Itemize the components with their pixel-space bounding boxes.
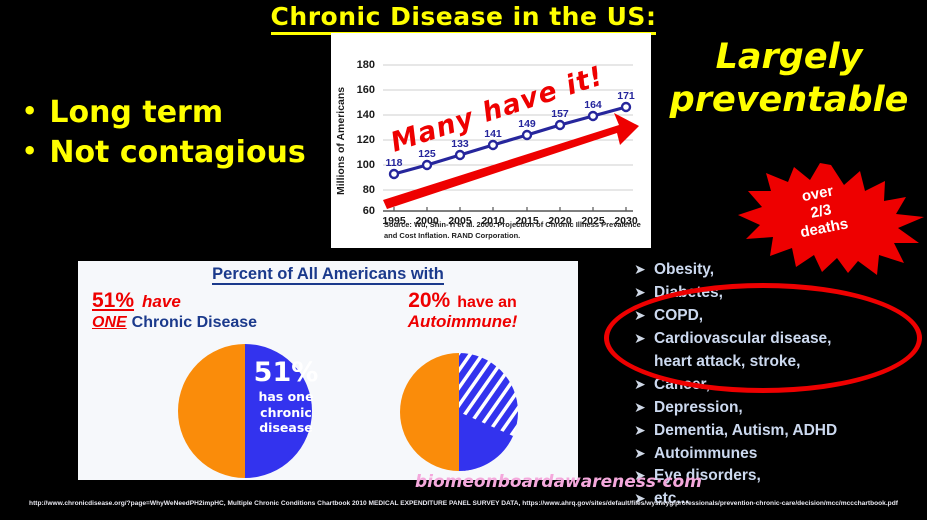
pie-panel-title-text: Percent of All Americans with bbox=[212, 265, 444, 285]
red-highlight-ellipse bbox=[604, 283, 922, 393]
pie-chart-autoimmune bbox=[400, 353, 518, 471]
list-item-label: Dementia, Autism, ADHD bbox=[654, 422, 837, 439]
pie-chart-panel: Percent of All Americans with 51%have ON… bbox=[78, 261, 578, 480]
left-pie-caption: 51%have ONEChronic Disease bbox=[92, 289, 362, 332]
chart-source-citation: Source: Wu, Shin-Yi et al. 2000. Project… bbox=[384, 220, 644, 242]
right-pie-caption: 20%have an Autoimmune! bbox=[350, 289, 575, 332]
right-caption-line-1: 20%have an bbox=[350, 289, 575, 313]
y-tick: 100 bbox=[349, 159, 375, 171]
arrow-bullet-icon: ➤ bbox=[634, 397, 654, 418]
list-item: ➤Autoimmunes bbox=[634, 443, 927, 466]
left-caption-rest: Chronic Disease bbox=[132, 314, 257, 331]
right-caption-line-2: Autoimmune! bbox=[350, 312, 575, 332]
left-caption-line-1: 51%have bbox=[92, 289, 362, 313]
key-points-list: Long term Not contagious bbox=[22, 93, 332, 173]
preventable-line-1: Largely bbox=[655, 36, 923, 79]
left-caption-line-2: ONEChronic Disease bbox=[92, 314, 362, 332]
page-title-text: Chronic Disease in the US: bbox=[271, 2, 657, 35]
right-caption-have: have an bbox=[457, 294, 517, 311]
right-caption-percent: 20% bbox=[408, 289, 450, 312]
preventable-line-2: preventable bbox=[655, 79, 923, 122]
arrow-bullet-icon: ➤ bbox=[634, 259, 654, 280]
list-item-label: Autoimmunes bbox=[654, 445, 757, 462]
list-item: ➤Dementia, Autism, ADHD bbox=[634, 420, 927, 443]
y-tick: 80 bbox=[349, 184, 375, 196]
pie-one-percent-label: 51% bbox=[250, 357, 322, 388]
prevalence-line-chart: Millions of Americans 180 160 140 120 10… bbox=[331, 33, 651, 248]
pie-panel-title: Percent of All Americans with bbox=[78, 265, 578, 284]
y-tick: 160 bbox=[349, 84, 375, 96]
pie-one-sublabel: has one chronic disease bbox=[250, 389, 322, 436]
left-caption-one: ONE bbox=[92, 314, 127, 331]
left-caption-have: have bbox=[142, 292, 181, 311]
arrow-bullet-icon: ➤ bbox=[634, 443, 654, 464]
y-tick: 60 bbox=[349, 205, 375, 217]
left-caption-percent: 51% bbox=[92, 289, 134, 312]
starburst-callout: over 2/3 deaths bbox=[738, 163, 924, 275]
y-tick: 120 bbox=[349, 134, 375, 146]
y-tick: 180 bbox=[349, 59, 375, 71]
y-tick: 140 bbox=[349, 109, 375, 121]
footer-citation: http://www.chronicdisease.org/?page=WhyW… bbox=[0, 500, 927, 507]
page-title: Chronic Disease in the US: bbox=[0, 2, 927, 31]
list-item: Not contagious bbox=[22, 133, 332, 173]
list-item-label: Obesity, bbox=[654, 261, 714, 278]
slide-root: Chronic Disease in the US: Long term Not… bbox=[0, 0, 927, 520]
list-item: Long term bbox=[22, 93, 332, 133]
arrow-bullet-icon: ➤ bbox=[634, 420, 654, 441]
site-watermark: biomeonboardawareness·com bbox=[415, 472, 702, 492]
list-item-label: Depression, bbox=[654, 399, 743, 416]
preventable-callout: Largely preventable bbox=[655, 36, 923, 121]
list-item: ➤Depression, bbox=[634, 397, 927, 420]
